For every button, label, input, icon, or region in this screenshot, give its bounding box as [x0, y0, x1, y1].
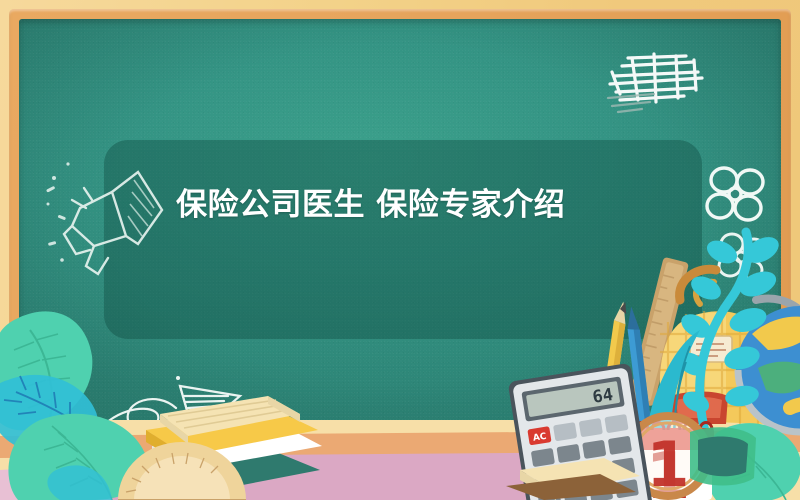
page-title: 保险公司医生 保险专家介绍 — [176, 184, 696, 226]
banner-image: 保险公司医生 保险专家介绍 — [0, 0, 800, 500]
title-backdrop-panel — [104, 140, 702, 339]
